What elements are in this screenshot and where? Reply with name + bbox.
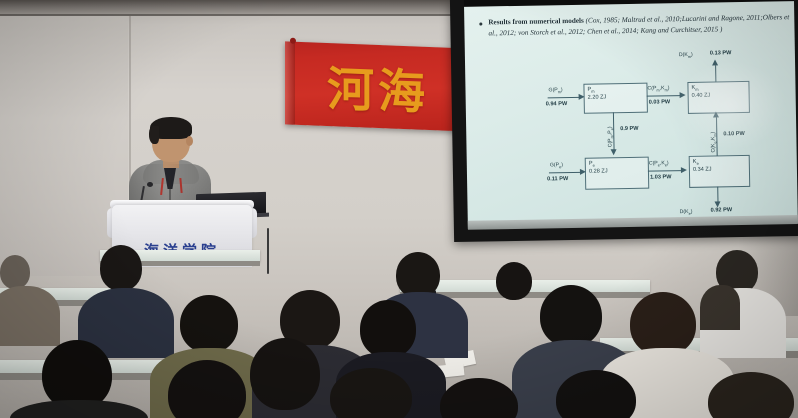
banner-text: 河海 <box>285 41 471 131</box>
label-dissipation-km: D(Km) <box>679 52 693 59</box>
value-generation-pm: 0.94 PW <box>546 101 568 107</box>
arrow-conversion-pm-km <box>647 95 681 97</box>
arrow-generation-pm <box>548 97 580 99</box>
projection-screen: Results from numerical models (Cox, 1985… <box>464 1 798 229</box>
box-subscript: e <box>593 163 595 168</box>
box-mean-potential-energy: Pm 2.20 ZJ <box>583 83 648 114</box>
presenter-sideburn <box>149 126 159 144</box>
label-dissipation-ke: D(Ke) <box>680 209 693 216</box>
power-cable <box>267 228 269 274</box>
value-conversion-pe-ke: 1.03 PW <box>650 174 672 180</box>
audience-shoulders <box>0 286 60 346</box>
box-value: 0.28 ZJ <box>589 168 608 174</box>
value-conversion-pm-pe: 0.9 PW <box>620 126 638 132</box>
box-subscript: e <box>697 161 699 166</box>
box-eddy-kinetic-energy: Ke 0.34 ZJ <box>689 155 751 188</box>
value-dissipation-km: 0.13 PW <box>710 50 732 56</box>
audience-head <box>540 285 602 347</box>
arrowhead-generation-pe <box>580 169 586 175</box>
audience-head <box>360 300 416 358</box>
box-symbol: Ke <box>693 159 699 166</box>
label-generation-pm: G(Pm) <box>548 87 562 94</box>
arrow-conversion-pe-ke <box>648 170 682 172</box>
value-generation-pe: 0.11 PW <box>547 176 568 182</box>
box-subscript: m <box>591 89 594 94</box>
microphone-head <box>147 182 153 187</box>
value-dissipation-ke: 0.92 PW <box>711 207 733 213</box>
arrow-generation-pe <box>549 172 581 174</box>
arrowhead-conversion-pe-ke <box>681 167 687 173</box>
projection-screen-frame: Results from numerical models (Cox, 1985… <box>450 0 798 242</box>
audience-arm-raised <box>700 285 740 330</box>
arrowhead-conversion-pm-pe <box>611 149 617 155</box>
label-generation-pe: G(Pe) <box>550 162 563 169</box>
label-conversion-pm-km: C(Pm,Km) <box>647 85 669 92</box>
audience-head <box>250 338 320 410</box>
arrowhead-generation-pm <box>579 94 585 100</box>
audience-head <box>180 295 238 353</box>
presenter-ear <box>186 136 193 146</box>
lecture-hall-photo: 河海 Results from numerical models (Cox, 1… <box>0 0 798 418</box>
label-conversion-pe-ke: C(Pe,Ke) <box>649 160 669 167</box>
audience-head <box>496 262 532 300</box>
audience-head <box>0 255 30 289</box>
box-eddy-potential-energy: Pe 0.28 ZJ <box>585 157 650 190</box>
value-conversion-pm-km: 0.03 PW <box>649 99 671 105</box>
label-conversion-pm-pe: C(Pm,Pe) <box>607 126 614 147</box>
audience-head <box>630 292 696 356</box>
arrow-dissipation-ke <box>717 186 718 202</box>
box-value: 2.20 ZJ <box>588 94 607 100</box>
box-symbol: Pe <box>589 161 595 168</box>
audience-head <box>100 245 142 291</box>
red-banner: 河海 <box>285 41 471 131</box>
box-value: 0.34 ZJ <box>693 167 712 173</box>
box-symbol: Pm <box>587 87 594 94</box>
